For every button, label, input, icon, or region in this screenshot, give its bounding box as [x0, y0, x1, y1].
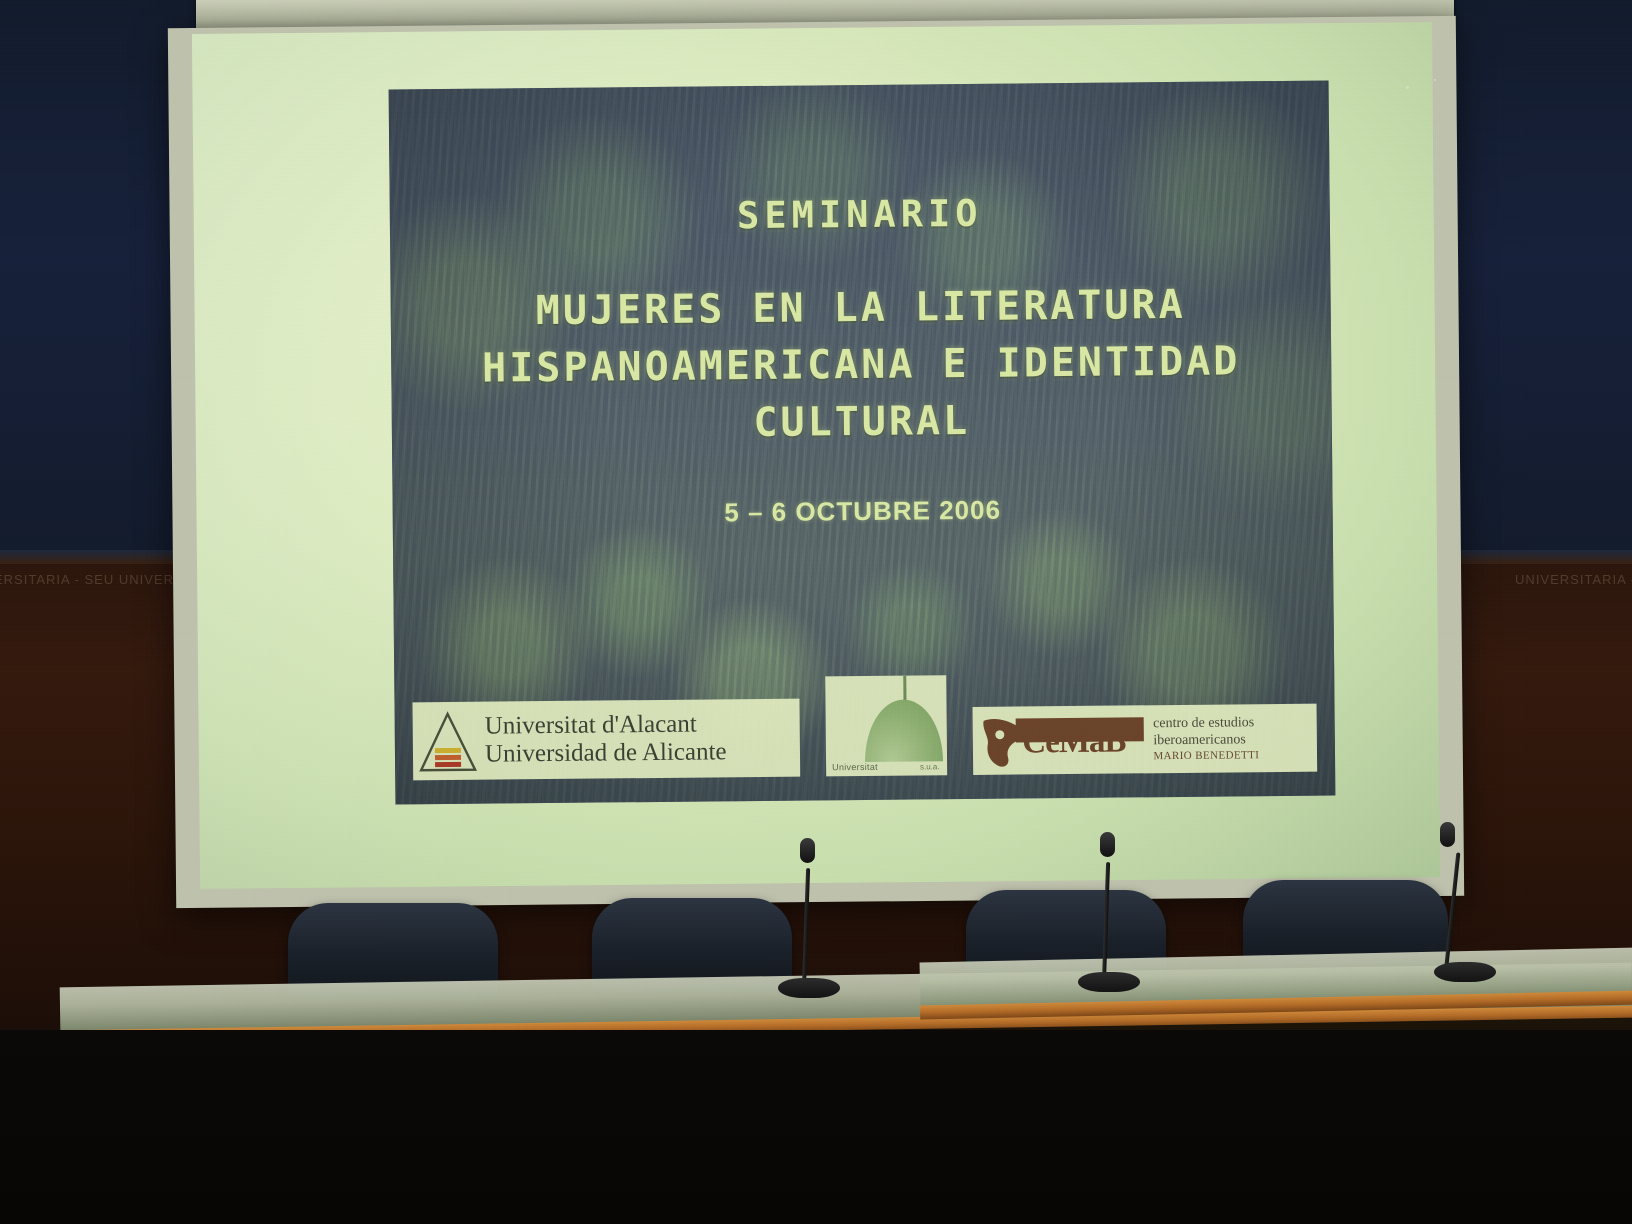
- wall-signage-right: UNIVERSITARIA -: [1436, 566, 1632, 592]
- cemab-mark: CeMaB: [978, 709, 1149, 771]
- slide-heading: SEMINARIO: [737, 192, 983, 237]
- slide-title-line-3: CULTURAL: [392, 389, 1333, 455]
- gooseneck-microphone: [1078, 832, 1140, 992]
- cemab-wordmark: centro de estudios iberoamericanos MARIO…: [1153, 716, 1259, 762]
- microphone-base: [1434, 962, 1496, 982]
- slide-date: 5 – 6 OCTUBRE 2006: [724, 495, 1001, 529]
- wine-glass: [1385, 884, 1419, 962]
- slide-logo-row: Universitat d'Alacant Universidad de Ali…: [394, 671, 1335, 780]
- projected-slide: SEMINARIO MUJERES EN LA LITERATURA HISPA…: [389, 81, 1336, 805]
- cemab-line-3: MARIO BENEDETTI: [1153, 749, 1259, 762]
- slide-title-line-1: MUJERES EN LA LITERATURA: [390, 275, 1331, 341]
- logo-seu-universitaria: Universitat s.u.a.: [825, 675, 947, 776]
- microphone-base: [778, 978, 840, 998]
- ua-line-2: Universidad de Alicante: [485, 738, 727, 768]
- microphone-base: [1078, 972, 1140, 992]
- cemab-line-1: centro de estudios: [1153, 716, 1259, 734]
- gooseneck-microphone: [778, 838, 840, 998]
- microphone-head: [1440, 822, 1455, 847]
- dust-speck: [1406, 86, 1409, 89]
- microphone-arm: [1102, 862, 1110, 980]
- microphone-arm: [802, 868, 810, 986]
- water-bottle: [988, 894, 1014, 986]
- logo-cemab: CeMaB centro de estudios iberoamericanos…: [973, 704, 1317, 775]
- water-bottle: [1342, 886, 1368, 978]
- conference-room-photo: ERSITARIA - SEU UNIVERS UNIVERSITARIA - …: [0, 0, 1632, 1224]
- seu-dome-icon: [865, 699, 944, 762]
- ua-wordmark: Universitat d'Alacant Universidad de Ali…: [485, 710, 727, 768]
- microphone-head: [1100, 832, 1115, 857]
- cemab-line-2: iberoamericanos: [1153, 732, 1259, 750]
- seu-caption-secondary: s.u.a.: [920, 762, 940, 771]
- microphone-head: [800, 838, 815, 863]
- ua-triangle-icon: [417, 708, 480, 775]
- logo-universitat-alacant: Universitat d'Alacant Universidad de Ali…: [412, 699, 800, 781]
- wine-glass: [1040, 898, 1074, 976]
- gooseneck-microphone: [1420, 822, 1482, 982]
- microphone-arm: [1444, 852, 1460, 970]
- seu-caption: Universitat: [832, 762, 878, 772]
- floor-shadow: [0, 1030, 1632, 1224]
- cemab-acronym: CeMaB: [1022, 725, 1125, 759]
- wine-glass: [713, 905, 747, 983]
- dust-speck: [1434, 79, 1436, 81]
- water-bottle: [664, 900, 690, 992]
- wall-signage-left: ERSITARIA - SEU UNIVERS: [0, 566, 194, 592]
- slide-title: MUJERES EN LA LITERATURA HISPANOAMERICAN…: [390, 275, 1332, 454]
- slide-title-line-2: HISPANOAMERICANA E IDENTIDAD: [391, 332, 1332, 398]
- ua-line-1: Universitat d'Alacant: [485, 710, 727, 740]
